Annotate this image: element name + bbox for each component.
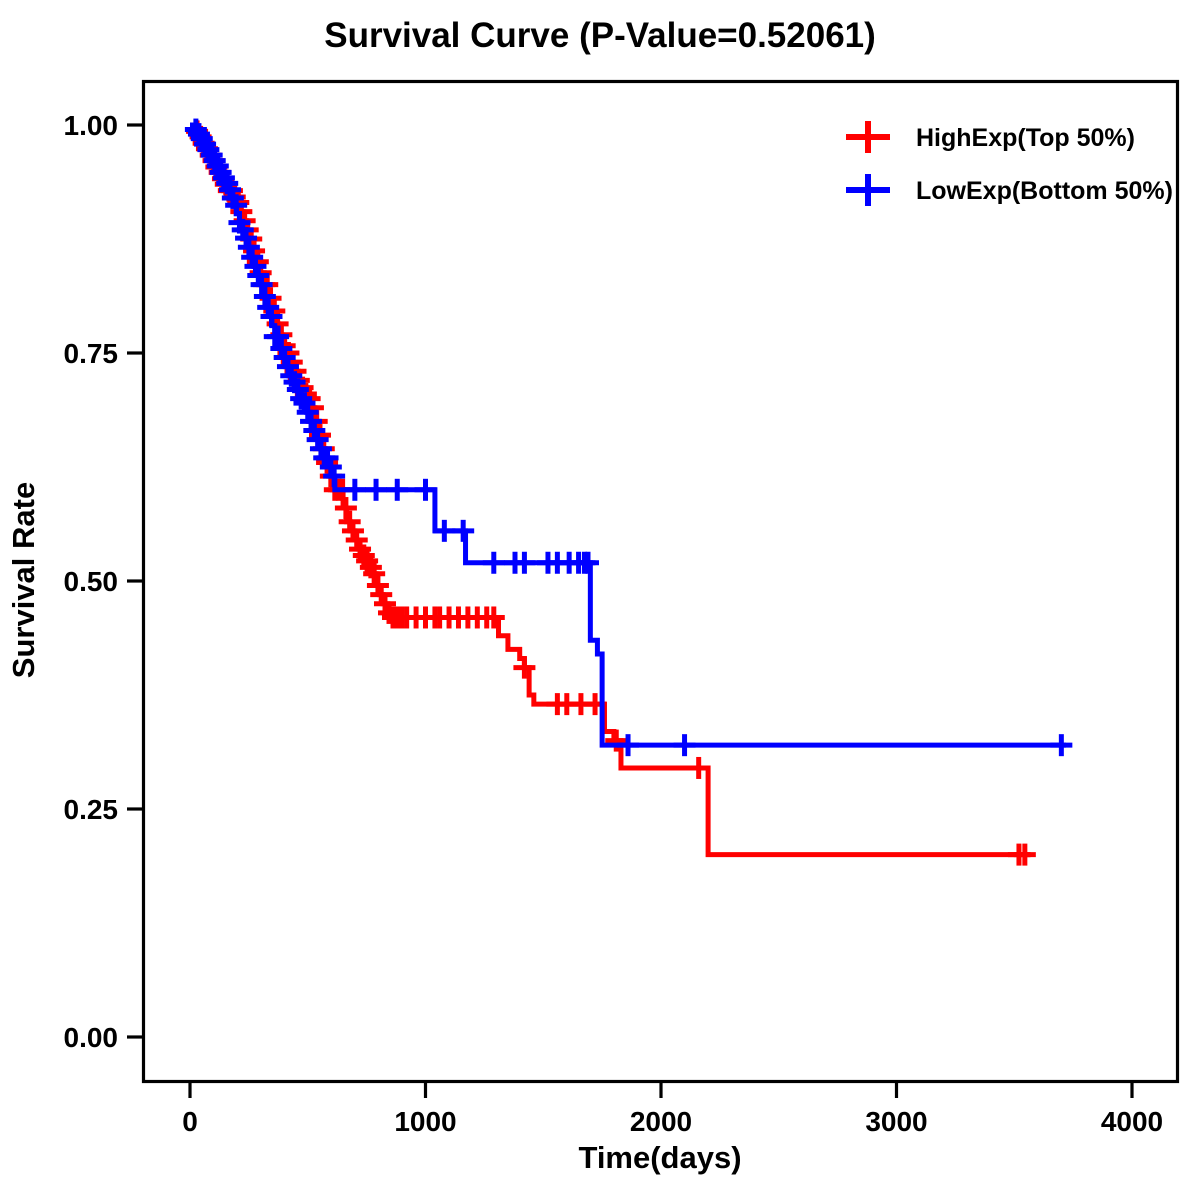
- series-layer: [185, 119, 1072, 866]
- series-high-exp: [186, 120, 1036, 865]
- x-tick-label: 3000: [865, 1106, 927, 1137]
- x-tick-label: 2000: [630, 1106, 692, 1137]
- y-axis-label: Survival Rate: [6, 482, 41, 678]
- x-axis-ticks: 01000200030004000: [182, 1083, 1163, 1137]
- y-tick-label: 0.50: [64, 566, 119, 597]
- y-axis-ticks: 0.000.250.500.751.00: [64, 110, 143, 1053]
- x-tick-label: 0: [182, 1106, 198, 1137]
- chart-page: Survival Curve (P-Value=0.52061) 0100020…: [0, 0, 1200, 1200]
- x-axis-label: Time(days): [578, 1140, 741, 1175]
- legend-label: LowExp(Bottom 50%): [916, 177, 1173, 205]
- y-tick-label: 1.00: [64, 110, 119, 141]
- series-low-exp: [185, 119, 1072, 757]
- y-tick-label: 0.00: [64, 1022, 119, 1053]
- y-tick-label: 0.75: [64, 338, 119, 369]
- x-tick-label: 4000: [1101, 1106, 1163, 1137]
- survival-plot: 01000200030004000 0.000.250.500.751.00 T…: [0, 0, 1200, 1200]
- x-tick-label: 1000: [394, 1106, 456, 1137]
- plot-frame: [144, 82, 1178, 1082]
- y-tick-label: 0.25: [64, 794, 119, 825]
- chart-legend: HighExp(Top 50%)LowExp(Bottom 50%): [846, 121, 1173, 206]
- legend-label: HighExp(Top 50%): [916, 124, 1135, 152]
